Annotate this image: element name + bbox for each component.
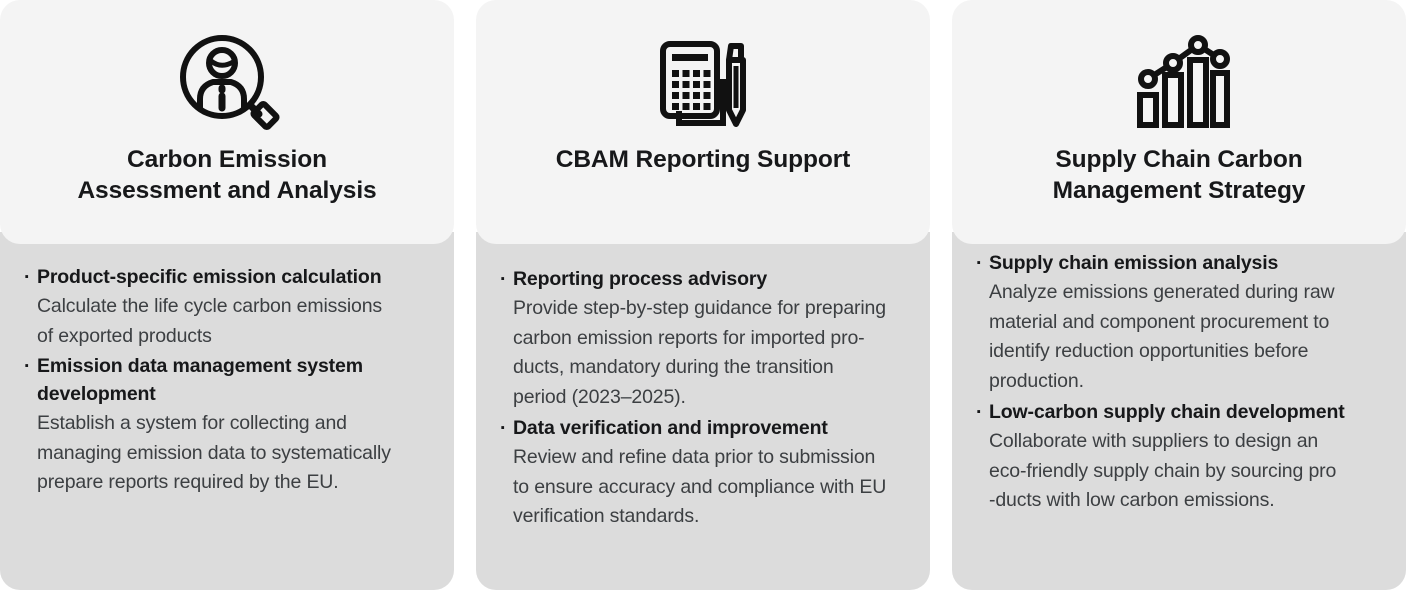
bullet-heading: Data verification and improvement (513, 415, 828, 443)
card-title-cbam-reporting-support: CBAM Reporting Support (538, 144, 868, 175)
bullet-heading: Reporting process advisory (513, 266, 767, 294)
bullet-dot-icon: · (976, 250, 989, 278)
bullet-description: Establish a system for collecting and ma… (37, 409, 430, 498)
bullet-heading: Supply chain emission analysis (989, 250, 1278, 278)
list-item: · Emission data management system develo… (24, 353, 430, 498)
card-header-carbon-emission-assessment: Carbon Emission Assessment and Analysis (0, 0, 454, 244)
bullet-heading: Product-specific emission calculation (37, 264, 381, 292)
service-column-carbon-emission-assessment: Carbon Emission Assessment and Analysis … (0, 0, 454, 590)
bullet-heading-row: · Low-carbon supply chain development (976, 399, 1382, 427)
bullet-dot-icon: · (500, 266, 513, 294)
bullet-heading-row: · Reporting process advisory (500, 266, 906, 294)
bullet-heading-row: · Supply chain emission analysis (976, 250, 1382, 278)
bullet-dot-icon: · (976, 399, 989, 427)
service-cards-board: Carbon Emission Assessment and Analysis … (0, 0, 1406, 590)
bullet-heading-row: · Product-specific emission calculation (24, 264, 430, 292)
calculator-pencil-icon (651, 28, 755, 136)
bullet-list: · Supply chain emission analysis Analyze… (976, 250, 1382, 516)
bullet-description: Calculate the life cycle carbon emission… (37, 292, 430, 352)
bullet-heading: Emission data management system developm… (37, 353, 430, 408)
bullet-list: · Reporting process advisory Provide ste… (500, 266, 906, 532)
bullet-dot-icon: · (24, 264, 37, 292)
card-header-cbam-reporting-support: CBAM Reporting Support (476, 0, 930, 244)
list-item: · Low-carbon supply chain development Co… (976, 399, 1382, 516)
person-magnifier-icon (173, 28, 281, 136)
bar-chart-trend-icon (1128, 28, 1230, 136)
list-item: · Product-specific emission calculation … (24, 264, 430, 351)
bullet-heading: Low-carbon supply chain development (989, 399, 1345, 427)
service-column-cbam-reporting-support: CBAM Reporting Support · Reporting proce… (476, 0, 930, 590)
bullet-list: · Product-specific emission calculation … (24, 264, 430, 498)
card-body-carbon-emission-assessment: · Product-specific emission calculation … (0, 232, 454, 590)
bullet-dot-icon: · (24, 353, 37, 381)
card-body-cbam-reporting-support: · Reporting process advisory Provide ste… (476, 232, 930, 590)
bullet-dot-icon: · (500, 415, 513, 443)
list-item: · Reporting process advisory Provide ste… (500, 266, 906, 413)
bullet-description: Provide step-by-step guidance for prepar… (513, 294, 906, 413)
card-title-supply-chain-carbon-management: Supply Chain Carbon Management Strategy (1035, 144, 1324, 207)
bullet-description: Review and refine data prior to submissi… (513, 443, 906, 532)
bullet-heading-row: · Emission data management system develo… (24, 353, 430, 408)
list-item: · Supply chain emission analysis Analyze… (976, 250, 1382, 397)
service-column-supply-chain-carbon-management: Supply Chain Carbon Management Strategy … (952, 0, 1406, 590)
card-title-carbon-emission-assessment: Carbon Emission Assessment and Analysis (59, 144, 394, 207)
bullet-description: Collaborate with suppliers to design an … (989, 427, 1382, 516)
card-body-supply-chain-carbon-management: · Supply chain emission analysis Analyze… (952, 232, 1406, 590)
bullet-description: Analyze emissions generated during raw m… (989, 278, 1382, 397)
card-header-supply-chain-carbon-management: Supply Chain Carbon Management Strategy (952, 0, 1406, 244)
list-item: · Data verification and improvement Revi… (500, 415, 906, 532)
bullet-heading-row: · Data verification and improvement (500, 415, 906, 443)
